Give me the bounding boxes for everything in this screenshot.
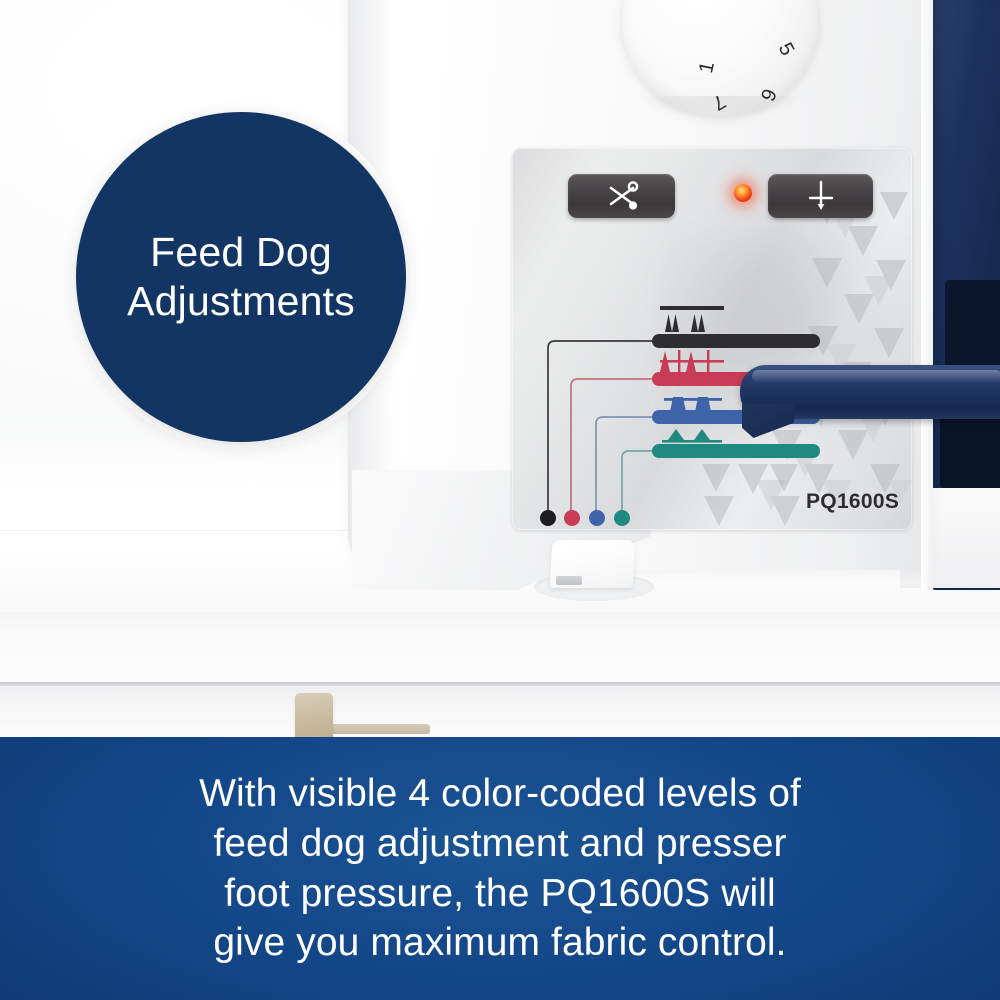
model-label: PQ1600S	[806, 490, 899, 514]
feed-dog-low-icon	[662, 429, 722, 443]
caption-line-2: feed dog adjustment and presser	[199, 819, 801, 869]
machine-body-seam	[921, 0, 933, 590]
feed-dog-level-black	[652, 334, 820, 348]
presser-foot-lever-gloss	[752, 370, 1000, 383]
badge-line-1: Feed Dog	[150, 228, 332, 277]
table-front-panel	[0, 612, 1000, 682]
caption-line-4: give you maximum fabric control.	[199, 918, 801, 968]
feed-dog-level-teal	[652, 444, 820, 458]
drawer-latch-arm	[330, 724, 430, 734]
feed-dog-dot-black	[540, 510, 556, 526]
feed-dog-lowered-icon	[660, 306, 724, 332]
feed-dog-dot-blue	[589, 510, 605, 526]
feed-dog-mid-icon	[664, 397, 722, 412]
feed-dog-dot-red	[564, 510, 580, 526]
machine-navy-recess-upper	[945, 280, 1000, 368]
table-drawer-latch[interactable]	[295, 693, 333, 737]
caption-line-1: With visible 4 color-coded levels of	[199, 769, 801, 819]
caption-line-3: foot pressure, the PQ1600S will	[199, 869, 801, 919]
connector-line-teal	[622, 451, 652, 514]
connector-line-black	[548, 341, 652, 514]
table-drawer	[0, 686, 1000, 737]
dial-number-1: 1	[695, 60, 720, 76]
dial-shadow	[630, 96, 810, 118]
connector-line-red	[571, 379, 652, 514]
caption-banner: With visible 4 color-coded levels of fee…	[0, 737, 1000, 1000]
feed-dog-dot-teal	[614, 510, 630, 526]
feed-dog-diagram	[512, 148, 912, 530]
feed-dog-adjustments-badge: Feed Dog Adjustments	[76, 112, 406, 442]
dial-number-5: 5	[773, 39, 799, 60]
feed-dog-knob-pointer	[556, 576, 582, 585]
product-photo: 1 5 6 7	[0, 0, 1000, 737]
feed-dog-highest-icon	[660, 350, 724, 372]
badge-line-2: Adjustments	[127, 277, 355, 326]
caption-text: With visible 4 color-coded levels of fee…	[139, 769, 861, 969]
connector-line-blue	[596, 417, 652, 514]
control-panel: PQ1600S	[512, 148, 912, 530]
promo-image-stage: 1 5 6 7	[0, 0, 1000, 1000]
